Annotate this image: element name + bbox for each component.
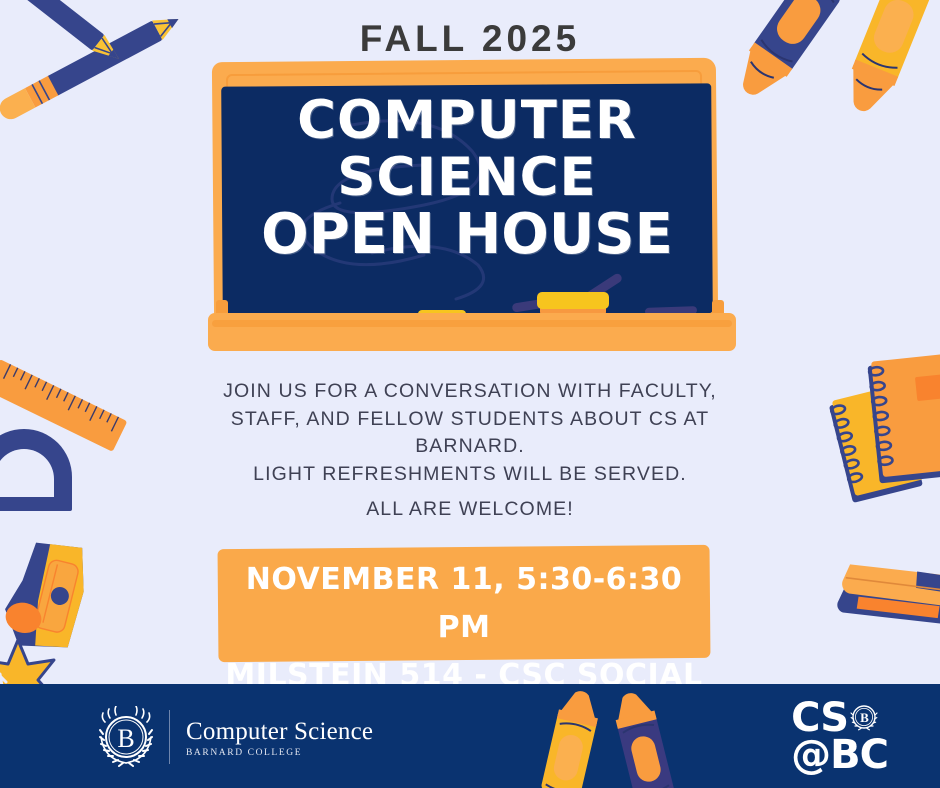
pencil-sharpener-decoration	[0, 525, 121, 675]
protractor-decoration	[0, 425, 102, 525]
body-line-2: STAFF, AND FELLOW STUDENTS ABOUT CS AT	[231, 408, 709, 430]
chalkboard-title-line-3: OPEN HOUSE	[222, 206, 712, 263]
welcome-line: ALL ARE WELCOME!	[150, 498, 790, 521]
cs-at-bc-logo: CS B @BC	[791, 700, 888, 774]
poster-canvas: FALL 2025 COMPUTER SCIENCE OPEN HOUSE JO…	[0, 0, 940, 788]
logo-subtitle: BARNARD COLLEGE	[186, 748, 373, 758]
logo-divider	[169, 710, 170, 764]
body-line-4: LIGHT REFRESHMENTS WILL BE SERVED.	[253, 463, 687, 485]
chalkboard-ledge	[208, 313, 736, 351]
page-title: FALL 2025	[0, 18, 940, 60]
body-line-1: JOIN US FOR A CONVERSATION WITH FACULTY,	[223, 380, 717, 402]
stapler-decoration	[828, 548, 940, 668]
chalkboard-title-line-1: COMPUTER	[222, 92, 712, 149]
chalkboard-title: COMPUTER SCIENCE OPEN HOUSE	[222, 92, 712, 263]
event-date-time: NOVEMBER 11, 5:30-6:30 PM	[218, 556, 710, 652]
logo-title: Computer Science	[186, 717, 373, 746]
cs-at-bc-line-2: @BC	[791, 737, 888, 774]
chalkboard-ledge-lip	[212, 320, 732, 327]
barnard-seal-letter: B	[117, 724, 134, 753]
barnard-mini-seal-icon: B	[849, 701, 879, 731]
ruler-decoration	[0, 368, 148, 488]
barnard-cs-logo-lockup: B Computer Science BARNARD COLLEGE	[95, 704, 373, 770]
notebooks-decoration	[830, 356, 940, 511]
body-paragraph: JOIN US FOR A CONVERSATION WITH FACULTY,…	[150, 378, 790, 488]
barnard-seal-icon: B	[95, 706, 157, 768]
mini-seal-letter: B	[860, 710, 869, 725]
chalk-eraser-top	[537, 292, 609, 309]
body-line-3: BARNARD.	[415, 435, 525, 457]
chalkboard-title-line-2: SCIENCE	[222, 149, 712, 206]
logo-wordmark: Computer Science BARNARD COLLEGE	[186, 717, 373, 758]
